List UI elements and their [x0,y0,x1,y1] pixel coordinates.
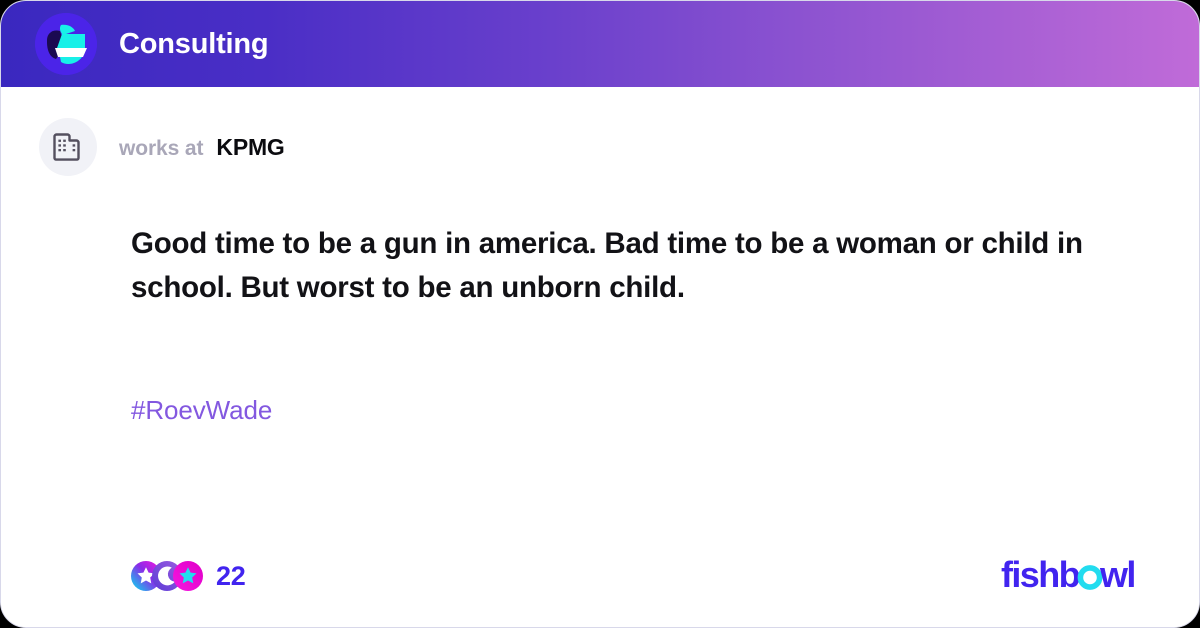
fishbowl-wordmark: fishb wl [1001,554,1141,598]
hashtag-link[interactable]: #RoevWade [131,395,1149,426]
star-reaction-icon[interactable] [173,561,203,591]
fishbowl-logo-icon[interactable] [35,13,97,75]
card-footer: 22 fishb wl [1,554,1199,598]
card-body: works at KPMG Good time to be a gun in a… [1,87,1199,628]
post-text: Good time to be a gun in america. Bad ti… [131,222,1149,309]
office-building-icon [39,118,97,176]
reaction-bubble-stack[interactable] [131,561,203,591]
reactions-group[interactable]: 22 [131,561,245,592]
post-content: Good time to be a gun in america. Bad ti… [1,222,1199,426]
svg-text:wl: wl [1099,554,1135,595]
works-at-line: works at KPMG [119,134,285,161]
page-title: Consulting [119,28,268,61]
svg-text:fishb: fishb [1001,554,1080,595]
author-meta: works at KPMG [1,87,1199,176]
company-name: KPMG [216,134,284,161]
card-header: Consulting [1,1,1199,87]
post-card: Consulting works at KPMG [0,0,1200,628]
reaction-count: 22 [216,561,245,592]
works-at-label: works at [119,137,203,161]
